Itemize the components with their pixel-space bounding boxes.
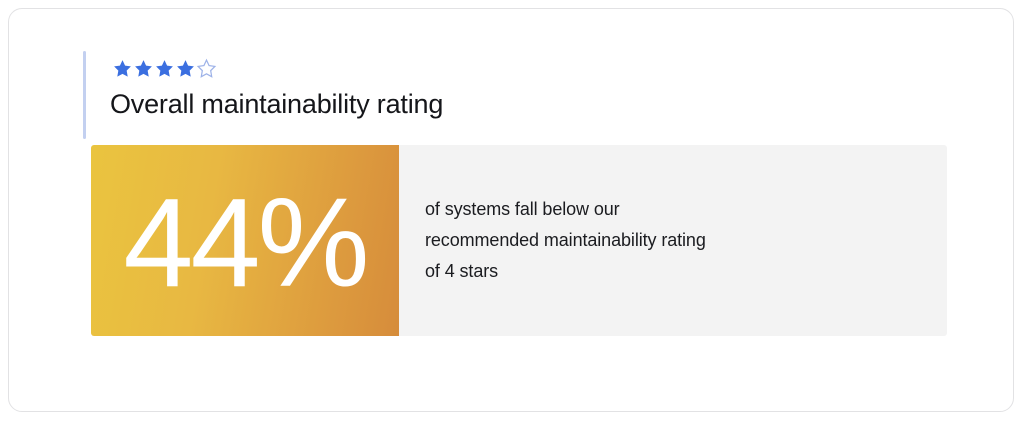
star-filled-icon xyxy=(154,58,175,79)
stat-band: 44% of systems fall below our recommende… xyxy=(91,145,947,336)
star-filled-icon xyxy=(112,58,133,79)
stat-description-line: of systems fall below our xyxy=(425,194,947,225)
stat-description-line: of 4 stars xyxy=(425,256,947,287)
left-accent-rule xyxy=(83,51,86,139)
page-title: Overall maintainability rating xyxy=(110,89,443,120)
stat-value: 44% xyxy=(123,180,366,306)
stat-description-line: recommended maintainability rating xyxy=(425,225,947,256)
star-filled-icon xyxy=(133,58,154,79)
stat-description-panel: of systems fall below our recommended ma… xyxy=(399,145,947,336)
stat-card: Overall maintainability rating 44% of sy… xyxy=(8,8,1014,412)
star-filled-icon xyxy=(175,58,196,79)
star-empty-icon xyxy=(196,58,217,79)
star-rating xyxy=(112,56,217,80)
stat-figure-block: 44% xyxy=(91,145,399,336)
